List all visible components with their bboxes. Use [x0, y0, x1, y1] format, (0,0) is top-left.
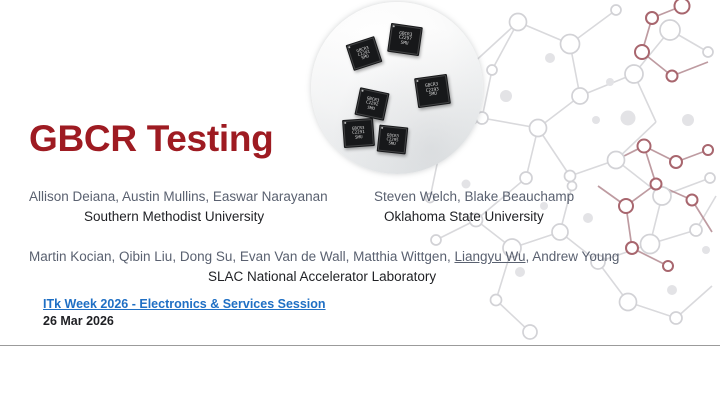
event-date: 26 Mar 2026 — [43, 314, 114, 328]
institute-slac: SLAC National Accelerator Laboratory — [208, 269, 436, 284]
presentation-slide: GBCR3 C2291 SMU GBCR3 C2297 SMU GBCR3 C2… — [0, 0, 720, 405]
chip-sample: GBCR3 C2293 SMU — [414, 74, 451, 108]
authors-before: Martin Kocian, Qibin Liu, Dong Su, Evan … — [29, 249, 454, 264]
institute-smu: Southern Methodist University — [84, 209, 264, 224]
chip-sample: GBCR3 C2295 SMU — [377, 125, 409, 155]
chip-sample: GBCR3 C2292 SMU — [354, 87, 389, 121]
page-title: GBCR Testing — [29, 118, 273, 160]
chip-sample: GBCR3 C2297 SMU — [387, 23, 423, 56]
chip-photo: GBCR3 C2291 SMU GBCR3 C2297 SMU GBCR3 C2… — [311, 2, 483, 174]
institute-osu: Oklahoma State University — [384, 209, 544, 224]
petri-dish: GBCR3 C2291 SMU GBCR3 C2297 SMU GBCR3 C2… — [311, 2, 483, 174]
chip-sample: GBCR3 C2291 SMU — [342, 118, 375, 148]
presenter-name: Liangyu Wu — [454, 249, 525, 264]
author-list-smu: Allison Deiana, Austin Mullins, Easwar N… — [29, 189, 328, 204]
author-list-osu: Steven Welch, Blake Beauchamp — [374, 189, 574, 204]
footer-logo-bar: SLA NATIONAL ACCELERATOR LABORATORY SMU.… — [0, 346, 720, 405]
authors-after: , Andrew Young — [526, 249, 620, 264]
event-link[interactable]: ITk Week 2026 - Electronics & Services S… — [43, 297, 326, 311]
author-list-slac: Martin Kocian, Qibin Liu, Dong Su, Evan … — [29, 249, 619, 264]
